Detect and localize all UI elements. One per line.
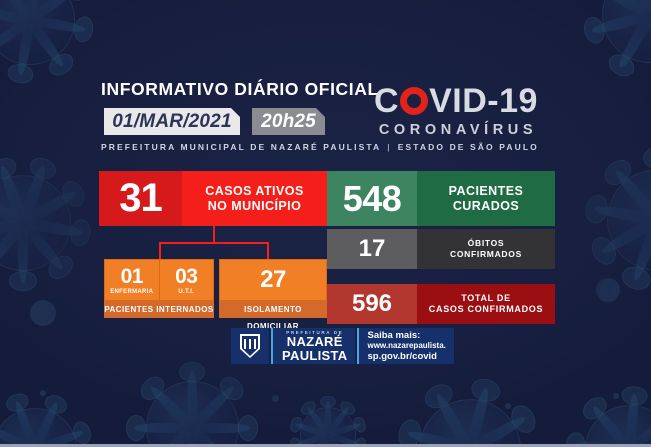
breadcrumb-separator: | [381,142,397,152]
red-circle-o-icon [400,87,428,115]
deaths-label: ÓBITOS CONFIRMADOS [417,229,555,269]
total-label: TOTAL DE CASOS CONFIRMADOS [417,284,555,324]
deaths-label-line1: ÓBITOS [468,238,505,249]
covid-19-logo: CVID-19 CORONAVÍRUS [360,82,552,138]
deaths-value: 17 [327,229,417,269]
breakdown-interned-patients: 01 ENFERMARIA 03 U.T.I. PACIENTES INTERN… [104,259,214,318]
brand-name-line2: PAULISTA [282,349,347,363]
cured-label-line1: PACIENTES [449,184,524,199]
breakdown-home-isolation: 27 ISOLAMENTO DOMICILIAR [219,259,327,318]
deaths-label-line2: CONFIRMADOS [450,249,522,260]
covid-daily-report-poster: INFORMATIVO DIÁRIO OFICIAL 01/MAR/2021 2… [0,0,651,447]
uti-label: U.T.I. [178,289,194,295]
stat-card-active-cases: 31 CASOS ATIVOS NO MUNICÍPIO [99,171,327,226]
learn-more-title: Saiba mais: [367,330,445,341]
cured-label-line2: CURADOS [453,199,519,214]
state-label: ESTADO DE SÃO PAULO [398,142,539,152]
active-cases-label-line2: NO MUNICÍPIO [208,199,302,214]
isolamento-value: 27 [260,268,286,292]
city-brand-logo: PREFEITURA DE NAZARÉ PAULISTA [271,328,355,364]
active-cases-value: 31 [99,171,182,226]
breakdown-cell-isolamento: 27 [219,259,327,301]
breakdown-connector [159,226,269,259]
uti-value: 03 [175,266,197,287]
covid-letters-rest: VID-19 [429,82,538,120]
interned-caption: PACIENTES INTERNADOS [104,301,214,318]
city-crest-icon [231,328,269,364]
covid-letter-c: C [374,82,399,120]
enfermaria-value: 01 [121,266,143,287]
learn-more-link[interactable]: Saiba mais: www.nazarepaulista. sp.gov.b… [357,328,453,364]
footer-bar: PREFEITURA DE NAZARÉ PAULISTA Saiba mais… [231,328,454,364]
municipality-label: PREFEITURA MUNICIPAL DE NAZARÉ PAULISTA [101,142,381,152]
learn-more-url-line2: sp.gov.br/covid [367,351,445,362]
enfermaria-label: ENFERMARIA [110,289,153,295]
cured-value: 548 [327,171,417,226]
total-label-line2: CASOS CONFIRMADOS [429,304,543,316]
total-label-line1: TOTAL DE [461,293,511,305]
page-title: INFORMATIVO DIÁRIO OFICIAL [101,79,379,100]
breadcrumb: PREFEITURA MUNICIPAL DE NAZARÉ PAULISTA|… [101,142,539,152]
coronavirus-subtitle: CORONAVÍRUS [360,122,552,138]
cured-label: PACIENTES CURADOS [417,171,555,226]
active-cases-label-line1: CASOS ATIVOS [205,184,303,199]
stat-card-cured-patients: 548 PACIENTES CURADOS [327,171,555,226]
breakdown-cell-enfermaria: 01 ENFERMARIA [104,259,160,301]
breakdown-cell-uti: 03 U.T.I. [160,259,215,301]
covid-wordmark: CVID-19 [360,82,552,120]
stat-card-confirmed-deaths: 17 ÓBITOS CONFIRMADOS [327,229,555,269]
learn-more-url-line1: www.nazarepaulista. [367,341,445,351]
isolation-caption: ISOLAMENTO DOMICILIAR [219,301,327,318]
stat-card-total-confirmed: 596 TOTAL DE CASOS CONFIRMADOS [327,284,555,324]
active-cases-label: CASOS ATIVOS NO MUNICÍPIO [182,171,327,226]
report-time-chip: 20h25 [252,108,325,135]
brand-name-line1: NAZARÉ [282,335,347,349]
report-date-chip: 01/MAR/2021 [104,108,240,135]
total-value: 596 [327,284,417,324]
